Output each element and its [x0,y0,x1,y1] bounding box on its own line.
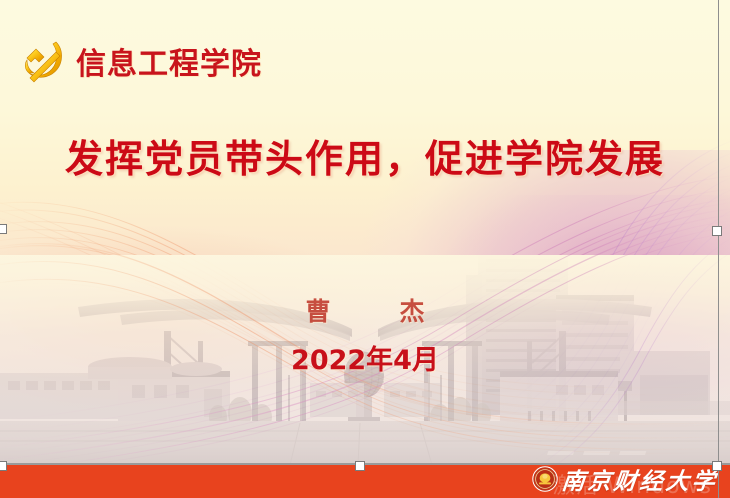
slide-right-edge [718,0,719,498]
college-logo[interactable]: 信息工程学院 [22,36,262,86]
selection-handle-bottom-right[interactable] [712,461,722,471]
cpc-hammer-sickle-icon [22,36,70,86]
selection-handle-right[interactable] [712,226,722,236]
presenter-name[interactable]: 曹 杰 [0,292,730,328]
nufe-seal-icon [532,466,558,492]
presentation-date[interactable]: 2022年4月 [0,338,730,377]
university-logo: 南京财经大学 [532,462,718,496]
selection-handle-bottom-left[interactable] [0,461,7,471]
university-name-label: 南京财经大学 [560,462,720,496]
slide-title[interactable]: 发挥党员带头作用，促进学院发展 [0,128,730,183]
selection-handle-bottom-center[interactable] [355,461,365,471]
selection-handle-left[interactable] [0,224,7,234]
presentation-slide[interactable]: 信息工程学院 发挥党员带头作用，促进学院发展 曹 杰 2022年4月 南京财经大… [0,0,730,498]
footer-bar[interactable]: 南京财经大学 激活 Windows [0,463,730,498]
college-name-label: 信息工程学院 [76,39,262,83]
